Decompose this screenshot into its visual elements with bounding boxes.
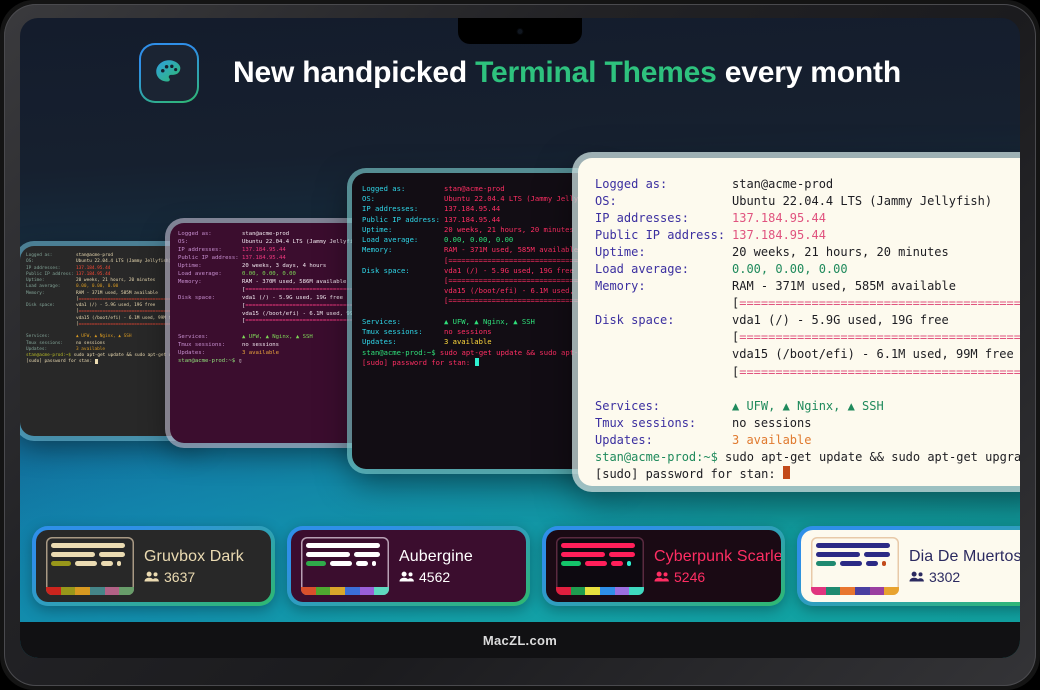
cursor-block — [475, 358, 479, 366]
color-swatch — [105, 587, 120, 595]
theme-card-meta: Aubergine4562 — [399, 548, 473, 585]
download-count: 3637 — [144, 569, 244, 585]
theme-card-meta: Gruvbox Dark3637 — [144, 548, 244, 585]
usage-bar-spacer — [178, 287, 242, 295]
camera-notch — [458, 18, 582, 44]
theme-name: Gruvbox Dark — [144, 548, 244, 566]
load-average-label: Load average: — [362, 235, 444, 245]
shell-command: sudo apt-get update && sudo apt-get upgr… — [725, 449, 1020, 466]
theme-name: Cyberpunk Scarlet — [654, 548, 771, 566]
services-value: ▲ UFW, ▲ Nginx, ▲ SSH — [444, 317, 535, 327]
theme-card-inner: Gruvbox Dark3637 — [36, 530, 271, 602]
preview-line-segment — [866, 561, 878, 566]
ip-addresses-label: IP addresses: — [362, 204, 444, 214]
load-average: Load average:0.00, 0.00, 0.00 — [362, 235, 602, 245]
preview-line-segment — [306, 561, 326, 566]
preview-line — [51, 543, 129, 548]
preview-line-segment — [51, 543, 125, 548]
ip-addresses-value: 137.184.95.44 — [242, 247, 286, 255]
preview-line — [561, 552, 639, 557]
color-swatch — [884, 587, 899, 595]
color-swatches — [301, 587, 389, 595]
device-frame: New handpicked Terminal Themes every mon… — [0, 0, 1040, 690]
logged-as-label: Logged as: — [595, 176, 732, 193]
color-swatch — [556, 587, 571, 595]
theme-preview-lines — [556, 537, 644, 587]
usage-bar-track: [=======================================… — [732, 329, 1020, 346]
disk-space-label: Disk space: — [595, 312, 732, 329]
blank-line — [595, 381, 1020, 398]
theme-card-inner: Dia De Muertos3302 — [801, 530, 1020, 602]
os-label: OS: — [178, 239, 242, 247]
os-value: Ubuntu 22.04.4 LTS (Jammy Jellyfish) — [242, 239, 363, 247]
memory: Memory:RAM - 371M used, 585M available — [595, 278, 1020, 295]
disk-space-2: vda15 (/boot/efi) - 6.1M used, 99M free — [362, 286, 602, 296]
logged-as-value: stan@acme-prod — [242, 231, 289, 239]
preview-line-segment — [627, 561, 631, 566]
os-value: Ubuntu 22.04.4 LTS (Jammy Jellyfish) — [444, 194, 600, 204]
sudo-password-line[interactable]: [sudo] password for stan: — [595, 466, 1020, 483]
logged-as: Logged as:stan@acme-prod — [595, 176, 1020, 193]
os: OS:Ubuntu 22.04.4 LTS (Jammy Jellyfish) — [595, 193, 1020, 210]
public-ip: Public IP address:137.184.95.44 — [178, 255, 378, 263]
preview-line — [51, 552, 129, 557]
preview-line-segment — [99, 552, 125, 557]
color-swatch — [119, 587, 134, 595]
uptime-label: Uptime: — [595, 244, 732, 261]
color-swatch — [855, 587, 870, 595]
usage-bar-spacer — [595, 364, 732, 381]
load-average-label: Load average: — [595, 261, 732, 278]
preview-line — [561, 561, 639, 566]
logged-as: Logged as:stan@acme-prod — [178, 231, 378, 239]
disk-space-value: vda1 (/) - 5.9G used, 19G free — [732, 312, 949, 329]
color-swatch — [629, 587, 644, 595]
usage-bar-track: [=======================================… — [76, 322, 184, 328]
blank-line — [178, 326, 378, 334]
download-count: 5246 — [654, 569, 771, 585]
usage-bar-spacer — [362, 256, 444, 266]
memory-label: Memory: — [362, 245, 444, 255]
memory-label: Memory: — [178, 279, 242, 287]
theme-name: Aubergine — [399, 548, 473, 566]
usage-bar: [=======================================… — [178, 318, 378, 326]
prompt-user: stan@acme-prod:~$ — [595, 449, 725, 466]
disk-space-2-label — [178, 311, 242, 319]
updates-value: 3 available — [444, 337, 492, 347]
color-swatches — [556, 587, 644, 595]
logged-as-label: Logged as: — [178, 231, 242, 239]
prompt-user: stan@acme-prod:~$ — [362, 348, 440, 358]
usage-bar: [=======================================… — [362, 276, 602, 286]
preview-line-segment — [882, 561, 886, 566]
users-icon — [144, 570, 160, 583]
ip-addresses: IP addresses:137.184.95.44 — [178, 247, 378, 255]
theme-preview-lines — [46, 537, 134, 587]
updates: Updates:3 available — [362, 337, 602, 347]
usage-bar-spacer — [595, 295, 732, 312]
headline-part-2: every month — [717, 56, 901, 89]
logged-as-value: stan@acme-prod — [444, 184, 505, 194]
public-ip-value: 137.184.95.44 — [242, 255, 286, 263]
color-swatch — [840, 587, 855, 595]
color-swatch — [811, 587, 826, 595]
theme-preview-thumbnail — [811, 537, 899, 595]
memory-value: RAM - 371M used, 585M available — [732, 278, 956, 295]
preview-line-segment — [306, 552, 350, 557]
headline-accent: Terminal Themes — [475, 56, 717, 89]
disk-space-2: vda15 (/boot/efi) - 6.1M used, 99M free — [595, 346, 1020, 363]
color-swatch — [600, 587, 615, 595]
preview-line-segment — [840, 561, 862, 566]
logged-as: Logged as:stan@acme-prod — [362, 184, 602, 194]
theme-card[interactable]: Dia De Muertos3302 — [797, 526, 1020, 606]
uptime-label: Uptime: — [362, 225, 444, 235]
color-swatch — [46, 587, 61, 595]
color-swatch — [615, 587, 630, 595]
uptime: Uptime:20 weeks, 3 days, 4 hours — [178, 263, 378, 271]
preview-line-segment — [51, 552, 95, 557]
usage-bar-spacer — [178, 318, 242, 326]
load-average-value: 0.00, 0.00, 0.00 — [242, 271, 296, 279]
headline-part-1: New handpicked — [233, 56, 475, 89]
preview-line — [816, 543, 894, 548]
preview-line — [816, 552, 894, 557]
os: OS:Ubuntu 22.04.4 LTS (Jammy Jellyfish) — [178, 239, 378, 247]
preview-line-segment — [816, 561, 836, 566]
tmux-sessions: Tmux sessions:no sessions — [595, 415, 1020, 432]
public-ip-label: Public IP address: — [178, 255, 242, 263]
screen: New handpicked Terminal Themes every mon… — [20, 18, 1020, 658]
memory-value: RAM - 370M used, 586M available — [242, 279, 346, 287]
usage-bar: [=======================================… — [595, 329, 1020, 346]
public-ip-value: 137.184.95.44 — [732, 227, 826, 244]
ip-addresses: IP addresses:137.184.95.44 — [595, 210, 1020, 227]
theme-card-meta: Dia De Muertos3302 — [909, 548, 1020, 585]
users-icon — [399, 570, 415, 583]
disk-space: Disk space:vda1 (/) - 5.9G used, 19G fre… — [178, 295, 378, 303]
usage-bar-track: [=======================================… — [732, 295, 1020, 312]
preview-line-segment — [864, 552, 890, 557]
memory: Memory:RAM - 370M used, 586M available — [178, 279, 378, 287]
ip-addresses-label: IP addresses: — [595, 210, 732, 227]
color-swatch — [61, 587, 76, 595]
color-swatch — [330, 587, 345, 595]
preview-line-segment — [609, 552, 635, 557]
usage-bar-spacer — [178, 303, 242, 311]
color-swatch — [316, 587, 331, 595]
color-swatch — [571, 587, 586, 595]
services: Services:▲ UFW, ▲ Nginx, ▲ SSH — [178, 334, 378, 342]
download-count-value: 4562 — [419, 569, 450, 585]
sudo-password-label: [sudo] password for stan: — [595, 466, 783, 483]
preview-line-segment — [101, 561, 113, 566]
preview-line-segment — [354, 552, 380, 557]
cursor-block — [95, 359, 98, 364]
sudo-password-label: [sudo] password for stan: — [26, 359, 95, 365]
color-swatches — [811, 587, 899, 595]
preview-line — [306, 543, 384, 548]
services-label: Services: — [178, 334, 242, 342]
download-count-value: 3637 — [164, 569, 195, 585]
ip-addresses-label: IP addresses: — [178, 247, 242, 255]
preview-line-segment — [51, 561, 71, 566]
preview-line-segment — [372, 561, 376, 566]
load-average-label: Load average: — [178, 271, 242, 279]
tmux-sessions: Tmux sessions:no sessions — [178, 342, 378, 350]
preview-line — [816, 561, 894, 566]
load-average-value: 0.00, 0.00, 0.00 — [444, 235, 513, 245]
updates-value: 3 available — [732, 432, 811, 449]
load-average: Load average:0.00, 0.00, 0.00 — [178, 271, 378, 279]
preview-line-segment — [561, 543, 635, 548]
download-count-value: 5246 — [674, 569, 705, 585]
preview-line — [51, 561, 129, 566]
load-average-value: 0.00, 0.00, 0.00 — [732, 261, 848, 278]
public-ip: Public IP address:137.184.95.44 — [595, 227, 1020, 244]
disk-space-2-label — [595, 346, 732, 363]
usage-bar-track: [=======================================… — [732, 364, 1020, 381]
tmux-sessions-label: Tmux sessions: — [178, 342, 242, 350]
services-value: ▲ UFW, ▲ Nginx, ▲ SSH — [242, 334, 313, 342]
download-count: 4562 — [399, 569, 473, 585]
camera-icon — [518, 29, 523, 34]
preview-line — [306, 552, 384, 557]
cyberpunk-scarlet-terminal[interactable]: Logged as:stan@acme-prodOS:Ubuntu 22.04.… — [352, 173, 612, 469]
blank-line — [362, 307, 602, 317]
usage-bar-spacer — [26, 322, 76, 328]
page-title: New handpicked Terminal Themes every mon… — [233, 56, 901, 90]
usage-bar: [=======================================… — [362, 296, 602, 306]
tmux-sessions-value: no sessions — [732, 415, 811, 432]
color-swatch — [870, 587, 885, 595]
preview-line-segment — [356, 561, 368, 566]
os-label: OS: — [362, 194, 444, 204]
dia-de-muertos-terminal[interactable]: Logged as:stan@acme-prodOS:Ubuntu 22.04.… — [578, 158, 1020, 486]
download-count-value: 3302 — [929, 569, 960, 585]
public-ip-label: Public IP address: — [595, 227, 732, 244]
users-icon — [654, 570, 670, 583]
usage-bar: [=======================================… — [595, 295, 1020, 312]
usage-bar: [=======================================… — [178, 303, 378, 311]
shell-prompt-line[interactable]: stan@acme-prod:~$ sudo apt-get update &&… — [362, 348, 602, 358]
usage-bar: [=======================================… — [595, 364, 1020, 381]
logged-as-label: Logged as: — [362, 184, 444, 194]
uptime-value: 20 weeks, 3 days, 4 hours — [242, 263, 326, 271]
preview-line-segment — [117, 561, 121, 566]
uptime: Uptime:20 weeks, 21 hours, 20 minutes — [362, 225, 602, 235]
preview-line-segment — [561, 561, 581, 566]
usage-bar-spacer — [595, 329, 732, 346]
tmux-sessions-value: no sessions — [444, 327, 492, 337]
updates: Updates:3 available — [595, 432, 1020, 449]
services-label: Services: — [362, 317, 444, 327]
cursor-block — [783, 466, 790, 479]
color-swatch — [75, 587, 90, 595]
updates-label: Updates: — [595, 432, 732, 449]
color-swatch — [360, 587, 375, 595]
sudo-password-label: [sudo] password for stan: — [362, 358, 475, 368]
updates-label: Updates: — [362, 337, 444, 347]
sudo-password-line[interactable]: [sudo] password for stan: — [362, 358, 602, 368]
tmux-sessions-label: Tmux sessions: — [595, 415, 732, 432]
theme-card[interactable]: Aubergine4562 — [287, 526, 530, 606]
color-swatch — [301, 587, 316, 595]
memory: Memory:RAM - 371M used, 585M available — [362, 245, 602, 255]
preview-line-segment — [816, 543, 890, 548]
shell-prompt-line[interactable]: stan@acme-prod:~$ sudo apt-get update &&… — [595, 449, 1020, 466]
disk-space: Disk space:vda1 (/) - 5.9G used, 19G fre… — [595, 312, 1020, 329]
ip-addresses-value: 137.184.95.44 — [732, 210, 826, 227]
disk-space-label: Disk space: — [362, 266, 444, 276]
uptime-value: 20 weeks, 21 hours, 20 minutes — [444, 225, 574, 235]
disk-space-2: vda15 (/boot/efi) - 6.1M used, 99M free — [178, 311, 378, 319]
shell-prompt-line[interactable]: stan@acme-prod:~$ ▯ — [178, 358, 378, 366]
updates-value: 3 available — [242, 350, 279, 358]
color-swatches — [46, 587, 134, 595]
users-icon — [909, 570, 925, 583]
usage-bar: [=======================================… — [178, 287, 378, 295]
theme-preview-lines — [301, 537, 389, 587]
theme-preview-thumbnail — [301, 537, 389, 595]
disk-space-2-label — [362, 286, 444, 296]
usage-bar-spacer — [362, 296, 444, 306]
download-count: 3302 — [909, 569, 1020, 585]
disk-space: Disk space:vda1 (/) - 5.9G used, 19G fre… — [362, 266, 602, 276]
public-ip: Public IP address:137.184.95.44 — [362, 215, 602, 225]
memory-label: Memory: — [595, 278, 732, 295]
theme-preview-thumbnail — [46, 537, 134, 595]
ip-addresses: IP addresses:137.184.95.44 — [362, 204, 602, 214]
uptime-label: Uptime: — [178, 263, 242, 271]
disk-space-label: Disk space: — [178, 295, 242, 303]
preview-line — [306, 561, 384, 566]
updates-label: Updates: — [178, 350, 242, 358]
disk-space-value: vda1 (/) - 5.9G used, 19G free — [242, 295, 343, 303]
memory-value: RAM - 371M used, 585M available — [444, 245, 578, 255]
theme-card-inner: Aubergine4562 — [291, 530, 526, 602]
tmux-sessions-label: Tmux sessions: — [362, 327, 444, 337]
color-swatch — [826, 587, 841, 595]
os-value: Ubuntu 22.04.4 LTS (Jammy Jellyfish) — [732, 193, 992, 210]
color-swatch — [90, 587, 105, 595]
color-swatch — [345, 587, 360, 595]
os: OS:Ubuntu 22.04.4 LTS (Jammy Jellyfish) — [362, 194, 602, 204]
services-label: Services: — [595, 398, 732, 415]
tmux-sessions: Tmux sessions:no sessions — [362, 327, 602, 337]
services: Services:▲ UFW, ▲ Nginx, ▲ SSH — [595, 398, 1020, 415]
ip-addresses-value: 137.184.95.44 — [444, 204, 500, 214]
preview-line-segment — [816, 552, 860, 557]
theme-card-meta: Cyberpunk Scarlet5246 — [654, 548, 771, 585]
services-value: ▲ UFW, ▲ Nginx, ▲ SSH — [732, 398, 884, 415]
theme-card-list: Gruvbox Dark3637Aubergine4562Cyberpunk S… — [20, 526, 1020, 606]
preview-line-segment — [585, 561, 607, 566]
theme-card[interactable]: Gruvbox Dark3637 — [32, 526, 275, 606]
load-average: Load average:0.00, 0.00, 0.00 — [595, 261, 1020, 278]
footer-bar: MacZL.com — [20, 622, 1020, 658]
preview-line-segment — [75, 561, 97, 566]
palette-icon — [139, 43, 199, 103]
sudo-password-line[interactable]: [sudo] password for stan: — [26, 359, 194, 365]
disk-space-2-value: vda15 (/boot/efi) - 6.1M used, 99M free — [732, 346, 1014, 363]
uptime-value: 20 weeks, 21 hours, 20 minutes — [732, 244, 949, 261]
cursor-block: ▯ — [239, 358, 242, 366]
preview-line-segment — [611, 561, 623, 566]
uptime: Uptime:20 weeks, 21 hours, 20 minutes — [595, 244, 1020, 261]
prompt-user: stan@acme-prod:~$ — [178, 358, 239, 366]
theme-card[interactable]: Cyberpunk Scarlet5246 — [542, 526, 785, 606]
usage-bar-spacer — [362, 276, 444, 286]
theme-name: Dia De Muertos — [909, 548, 1020, 566]
theme-preview-lines — [811, 537, 899, 587]
updates: Updates:3 available — [178, 350, 378, 358]
services: Services:▲ UFW, ▲ Nginx, ▲ SSH — [362, 317, 602, 327]
public-ip-value: 137.184.95.44 — [444, 215, 500, 225]
preview-line-segment — [306, 543, 380, 548]
preview-line — [561, 543, 639, 548]
disk-space-value: vda1 (/) - 5.9G used, 19G free — [444, 266, 574, 276]
watermark: MacZL.com — [483, 633, 557, 648]
usage-bar: [=======================================… — [362, 256, 602, 266]
theme-preview-thumbnail — [556, 537, 644, 595]
os-label: OS: — [595, 193, 732, 210]
logged-as-value: stan@acme-prod — [732, 176, 833, 193]
preview-line-segment — [561, 552, 605, 557]
preview-line-segment — [330, 561, 352, 566]
usage-bar: [=======================================… — [26, 322, 194, 328]
tmux-sessions-value: no sessions — [242, 342, 279, 350]
theme-card-inner: Cyberpunk Scarlet5246 — [546, 530, 781, 602]
color-swatch — [374, 587, 389, 595]
public-ip-label: Public IP address: — [362, 215, 444, 225]
color-swatch — [585, 587, 600, 595]
